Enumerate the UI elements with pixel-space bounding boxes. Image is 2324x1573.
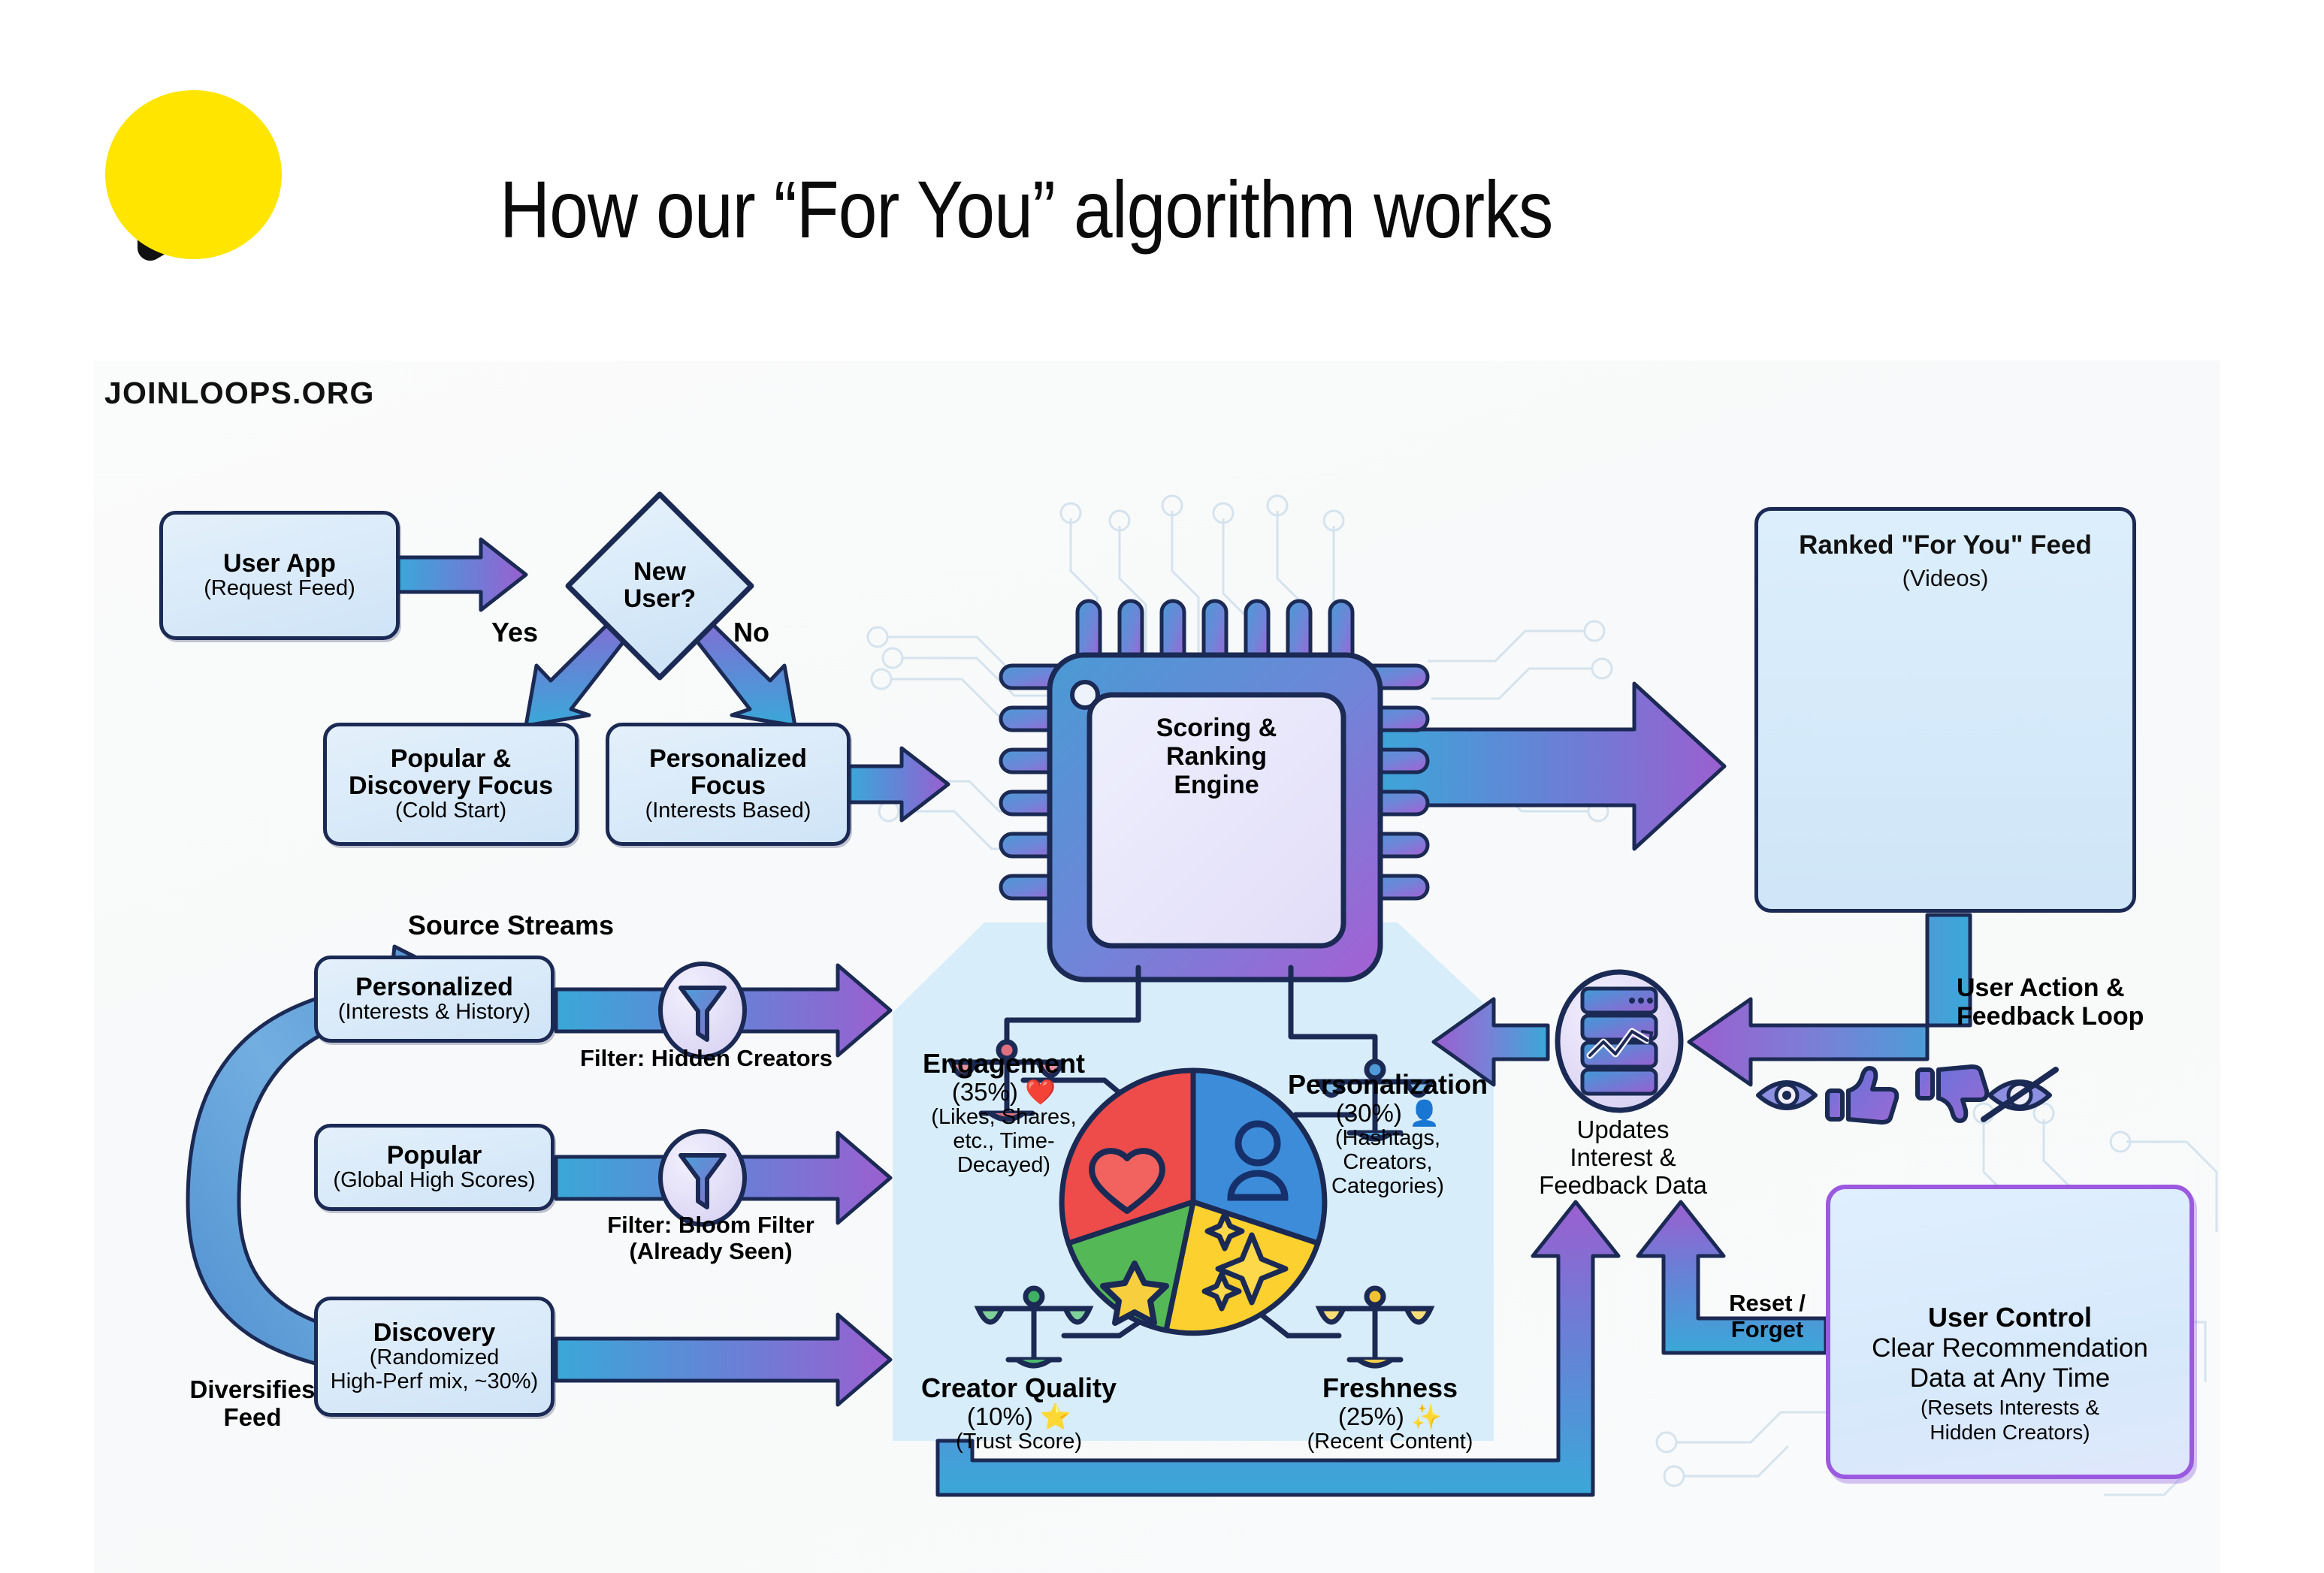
flow-box-cold-start[interactable]: Popular & Discovery Focus (Cold Start) [323,723,579,846]
engagement-name: Engagement [891,1049,1117,1079]
source-streams-heading: Source Streams [361,910,661,940]
filter-bloom-line1: Filter: Bloom Filter [561,1212,861,1239]
user-control-title: User Control [1928,1302,2092,1333]
source-discovery-subtitle-line1: (Randomized [370,1346,499,1370]
creator-quality-sub: (Trust Score) [899,1430,1139,1454]
feedback-loop-line2: Feedback Loop [1957,1002,2272,1031]
creator-quality-pct: (10%) [967,1402,1033,1430]
branch-label-no: No [706,617,796,648]
engine-label-line1: Scoring & [1091,714,1342,742]
freshness-name: Freshness [1270,1373,1510,1403]
user-control-sub-line2: Hidden Creators) [1930,1421,2090,1444]
reset-forget-label: Reset / Forget [1700,1291,1835,1342]
sparkles-icon: ✨ [1411,1402,1442,1430]
branch-label-yes: Yes [466,617,564,648]
weight-label-creator-quality: Creator Quality (10%) ⭐ (Trust Score) [899,1373,1139,1454]
personalization-pct: (30%) [1336,1099,1402,1127]
user-control-panel[interactable]: User Control Clear Recommendation Data a… [1826,1185,2194,1479]
source-popular-subtitle: (Global High Scores) [333,1169,535,1193]
diversifies-feed-line2: Feed [140,1404,365,1432]
person-icon: 👤 [1409,1099,1440,1127]
user-control-line1: Clear Recommendation [1872,1333,2148,1363]
engagement-pct: (35%) [952,1078,1018,1106]
engagement-sub-line3: Decayed) [891,1154,1117,1178]
reset-forget-line2: Forget [1700,1317,1835,1343]
weight-label-personalization: Personalization (30%) 👤 (Hashtags, Creat… [1271,1070,1504,1199]
feedback-loop-label: User Action & Feedback Loop [1957,974,2272,1031]
user-control-sub-line1: (Resets Interests & [1921,1396,2099,1419]
brand-logo-badge [105,90,282,259]
flow-box-user-app[interactable]: User App (Request Feed) [159,511,400,640]
source-popular-title: Popular [387,1142,482,1169]
source-personalized-title: Personalized [355,974,513,1001]
freshness-pct: (25%) [1338,1402,1404,1430]
diversifies-feed-line1: Diversifies [140,1376,365,1404]
engine-label-line3: Engine [1091,771,1342,799]
flow-box-user-app-subtitle: (Request Feed) [204,577,355,601]
source-personalized-subtitle: (Interests & History) [338,1001,530,1025]
personalized-focus-title-line1: Personalized [649,745,807,772]
engine-label: Scoring & Ranking Engine [1091,714,1342,799]
filter-label-bloom: Filter: Bloom Filter (Already Seen) [561,1212,861,1264]
page-title: How our “For You” algorithm works [500,162,1552,256]
source-box-popular[interactable]: Popular (Global High Scores) [314,1124,555,1211]
cold-start-title-line2: Discovery Focus [349,772,553,799]
updates-line1: Updates [1495,1116,1751,1144]
personalized-focus-title-line2: Focus [691,772,766,799]
filter-bloom-line2: (Already Seen) [561,1239,861,1265]
updates-line3: Feedback Data [1495,1172,1751,1200]
cold-start-subtitle: (Cold Start) [395,799,506,823]
creator-quality-name: Creator Quality [899,1373,1139,1403]
personalization-name: Personalization [1271,1070,1504,1100]
ranked-feed-subtitle: (Videos) [1758,565,2132,592]
decision-new-user[interactable]: New User? [568,494,751,678]
updates-line2: Interest & [1495,1144,1751,1172]
personalization-sub-line3: Categories) [1271,1175,1504,1199]
engagement-sub-line2: etc., Time- [891,1130,1117,1154]
engine-label-line2: Ranking [1091,742,1342,771]
flow-box-personalized-focus[interactable]: Personalized Focus (Interests Based) [606,723,851,846]
weight-label-freshness: Freshness (25%) ✨ (Recent Content) [1270,1373,1510,1454]
engagement-sub-line1: (Likes, Shares, [891,1106,1117,1130]
star-icon: ⭐ [1040,1402,1071,1430]
cold-start-title-line1: Popular & [391,745,512,772]
source-box-personalized[interactable]: Personalized (Interests & History) [314,956,555,1043]
weight-label-engagement: Engagement (35%) ❤️ (Likes, Shares, etc.… [891,1049,1117,1178]
decision-label-line1: New [633,559,686,586]
personalization-sub-line1: (Hashtags, [1271,1127,1504,1151]
updates-interest-label: Updates Interest & Feedback Data [1495,1116,1751,1200]
flow-box-user-app-title: User App [223,550,336,577]
diversifies-feed-label: Diversifies Feed [140,1376,365,1432]
filter-label-hidden-creators: Filter: Hidden Creators [549,1046,864,1072]
feedback-loop-line1: User Action & [1957,974,2272,1002]
user-control-line2: Data at Any Time [1910,1363,2111,1393]
source-discovery-title: Discovery [373,1319,496,1346]
reset-forget-line1: Reset / [1700,1291,1835,1317]
freshness-sub: (Recent Content) [1270,1430,1510,1454]
ranked-feed-title: Ranked "For You" Feed [1758,530,2132,560]
brand-url: JOINLOOPS.ORG [104,376,375,411]
personalized-focus-subtitle: (Interests Based) [645,799,811,823]
personalization-sub-line2: Creators, [1271,1151,1504,1175]
ranked-feed-panel[interactable]: Ranked "For You" Feed (Videos) [1754,507,2136,913]
heart-icon: ❤️ [1025,1078,1056,1106]
decision-label-line2: User? [624,586,696,613]
